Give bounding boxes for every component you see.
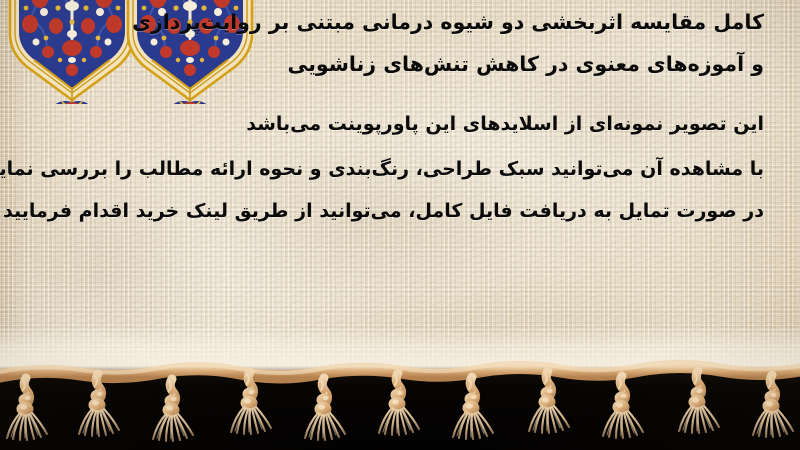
persian-medallion-ornament-left — [6, 0, 138, 104]
slide-body-line-3: در صورت تمایل به دریافت فایل کامل، می‌تو… — [3, 200, 764, 222]
slide-canvas: کامل مقایسه اثربخشی دو شیوه درمانی مبتنی… — [0, 0, 800, 450]
slide-title-line-1: کامل مقایسه اثربخشی دو شیوه درمانی مبتنی… — [132, 10, 764, 34]
slide-body-line-1: این تصویر نمونه‌ای از اسلایدهای این پاور… — [246, 113, 764, 135]
slide-title-line-2: و آموزه‌های معنوی در کاهش تنش‌های زناشوی… — [287, 52, 764, 76]
carpet-tassel-fringe — [0, 352, 800, 450]
slide-body-line-2: با مشاهده آن می‌توانید سبک طراحی، رنگ‌بن… — [0, 158, 764, 180]
